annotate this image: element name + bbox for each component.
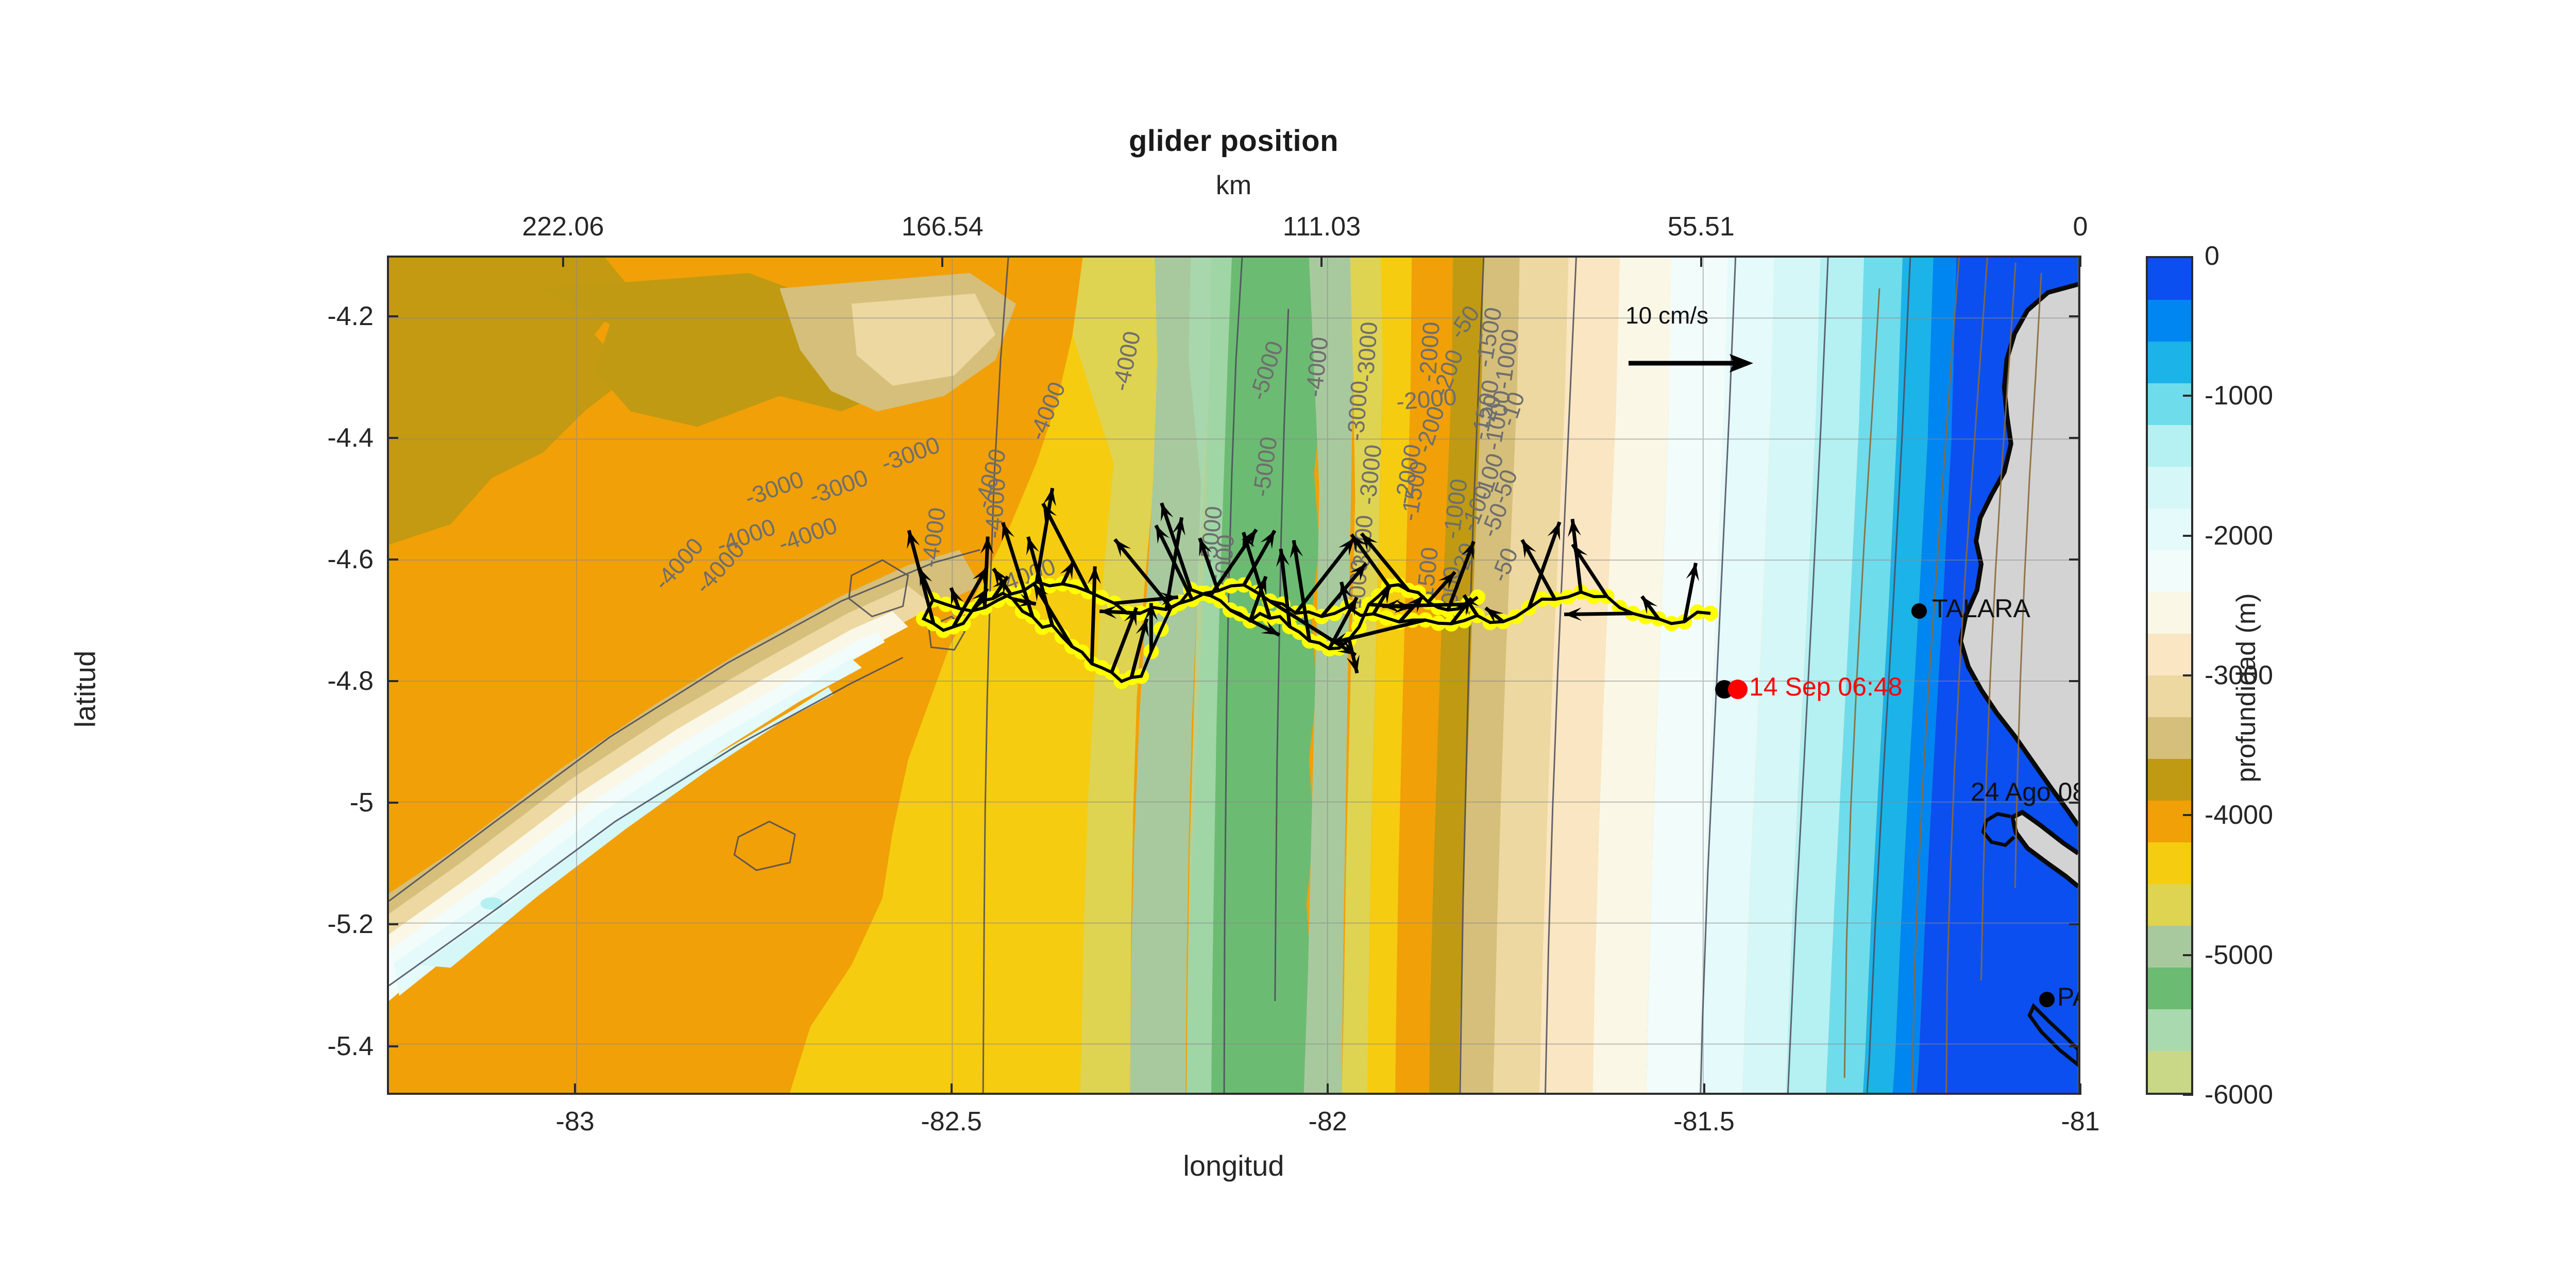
- colorbar-tick-mark-5: [2183, 954, 2193, 956]
- top-tick-label-4: 0: [2073, 211, 2088, 242]
- colorbar-tick-mark-3: [2183, 674, 2193, 676]
- page-title: glider position: [387, 124, 2080, 158]
- colorbar-tick-mark-2: [2183, 535, 2193, 537]
- y-tick-mark-5: [387, 923, 398, 925]
- y-tick-label-5: -5.2: [327, 909, 374, 940]
- city-dot-paita: [2039, 992, 2055, 1007]
- y-tick-label-6: -5.4: [327, 1031, 374, 1062]
- quiver-key-label: 10 cm/s: [1625, 301, 1708, 329]
- y-tick-mark-6: [387, 1045, 398, 1047]
- y-tick-mark-right-3: [2069, 680, 2080, 682]
- y-tick-label-0: -4.2: [327, 301, 374, 332]
- top-tick-label-0: 222.06: [522, 211, 604, 242]
- colorbar-tick-mark-1: [2183, 395, 2193, 397]
- y-tick-label-3: -4.8: [327, 666, 374, 697]
- top-tick-mark-1: [941, 256, 943, 267]
- top-tick-mark-2: [1320, 256, 1323, 267]
- contour-label-3: -3000: [1352, 321, 1382, 383]
- colorbar-band-13: [2148, 801, 2191, 842]
- colorbar-band-7: [2148, 550, 2191, 592]
- colorbar-band-18: [2148, 1009, 2191, 1051]
- y-tick-mark-2: [387, 558, 398, 561]
- colorbar-band-5: [2148, 467, 2191, 509]
- colorbar-tick-label-2: -2000: [2205, 520, 2273, 551]
- x-tick-label-4: -81: [2061, 1106, 2099, 1137]
- contour-label-11: -3000: [1342, 380, 1372, 442]
- glider-start-label: 24 Ago 08:15: [1971, 777, 2080, 807]
- map-plot-area[interactable]: -4000-5000-4000-3000-2000-1500-1000-4000…: [387, 256, 2080, 1095]
- colorbar-band-2: [2148, 342, 2191, 383]
- colorbar-band-8: [2148, 592, 2191, 634]
- x-tick-mark-0: [574, 1083, 576, 1095]
- colorbar-band-0: [2148, 258, 2191, 300]
- y-tick-mark-right-1: [2069, 437, 2080, 439]
- top-tick-label-1: 166.54: [902, 211, 984, 242]
- top-tick-mark-4: [2079, 256, 2081, 267]
- x-tick-label-2: -82: [1309, 1106, 1347, 1137]
- colorbar-tick-label-5: -5000: [2205, 940, 2273, 971]
- colorbar-band-11: [2148, 717, 2191, 759]
- colorbar-band-6: [2148, 509, 2191, 550]
- colorbar-band-19: [2148, 1051, 2191, 1093]
- y-tick-mark-4: [387, 802, 398, 804]
- x-tick-mark-3: [1703, 1083, 1705, 1095]
- x-tick-label-0: -83: [556, 1106, 595, 1137]
- x-tick-label-1: -82.5: [921, 1106, 982, 1137]
- top-tick-label-3: 55.51: [1668, 211, 1735, 242]
- y-tick-mark-right-2: [2069, 558, 2080, 561]
- colorbar-tick-label-1: -1000: [2205, 380, 2273, 411]
- y-tick-mark-0: [387, 315, 398, 317]
- y-tick-mark-right-6: [2069, 1045, 2080, 1047]
- top-tick-mark-0: [562, 256, 564, 267]
- figure-canvas: glider position km longitud latitud prof…: [0, 0, 2576, 1288]
- y-tick-mark-1: [387, 437, 398, 439]
- colorbar-band-9: [2148, 634, 2191, 675]
- y-tick-mark-right-5: [2069, 923, 2080, 925]
- colorbar-tick-label-6: -6000: [2205, 1079, 2273, 1110]
- y-tick-label-1: -4.4: [327, 422, 374, 453]
- glider-end-dot: [1728, 680, 1748, 699]
- x-tick-mark-4: [2079, 1083, 2081, 1095]
- colorbar-band-14: [2148, 842, 2191, 884]
- top-tick-mark-3: [1700, 256, 1702, 267]
- colorbar-band-3: [2148, 383, 2191, 425]
- y-tick-label-4: -5: [350, 787, 374, 818]
- colorbar-tick-mark-6: [2183, 1094, 2193, 1096]
- colorbar-band-1: [2148, 300, 2191, 342]
- quiver-key-arrow: [1624, 348, 1758, 379]
- city-dot-talara: [1911, 603, 1927, 619]
- city-label-paita: PAITA: [2057, 982, 2080, 1012]
- x-tick-mark-2: [1327, 1083, 1329, 1095]
- colorbar-tick-label-3: -3000: [2205, 660, 2273, 691]
- glider-end-label: 14 Sep 06:48: [1749, 672, 1903, 702]
- y-tick-mark-right-4: [2069, 802, 2080, 804]
- colorbar-band-15: [2148, 884, 2191, 926]
- top-axis-label: km: [387, 170, 2080, 201]
- y-tick-label-2: -4.6: [327, 544, 374, 575]
- colorbar-tick-mark-4: [2183, 814, 2193, 816]
- y-tick-mark-3: [387, 680, 398, 682]
- top-tick-label-2: 111.03: [1283, 211, 1361, 242]
- x-tick-label-3: -81.5: [1673, 1106, 1735, 1137]
- y-axis-label: latitud: [69, 457, 102, 921]
- colorbar-tick-label-0: 0: [2205, 241, 2219, 272]
- x-axis-label: longitud: [387, 1149, 2080, 1182]
- colorbar-band-16: [2148, 926, 2191, 968]
- colorbar-band-4: [2148, 425, 2191, 467]
- y-tick-mark-right-0: [2069, 315, 2080, 317]
- city-label-talara: TALARA: [1932, 594, 2030, 623]
- colorbar-band-12: [2148, 759, 2191, 801]
- x-tick-mark-1: [951, 1083, 953, 1095]
- colorbar-band-10: [2148, 675, 2191, 717]
- colorbar-band-17: [2148, 968, 2191, 1009]
- colorbar-tick-label-4: -4000: [2205, 800, 2273, 831]
